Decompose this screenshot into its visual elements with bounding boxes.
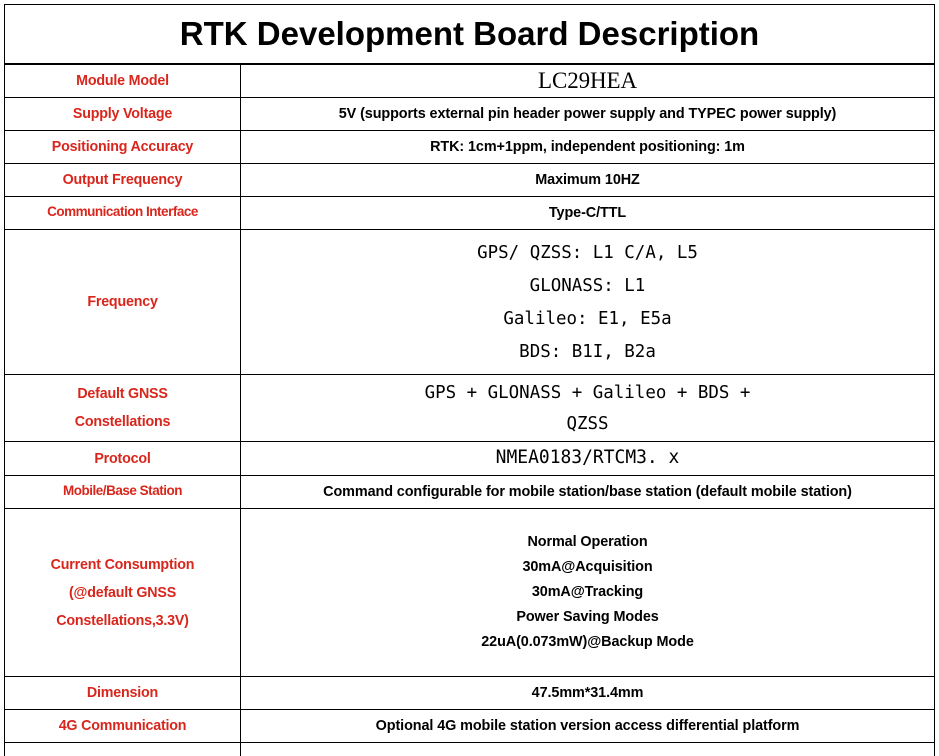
row-label-partial	[5, 742, 241, 756]
row-value-communication-interface: Type-C/TTL	[241, 196, 935, 229]
label-text: Communication Interface	[15, 203, 231, 222]
label-line: Constellations,3.3V)	[15, 611, 231, 630]
table-row: Module Model LC29HEA	[5, 64, 935, 97]
value-line: 22uA(0.073mW)@Backup Mode	[259, 632, 917, 652]
row-value-frequency: GPS/ QZSS: L1 C/A, L5 GLONASS: L1 Galile…	[241, 229, 935, 374]
value-line: GPS + GLONASS + Galileo + BDS +	[255, 377, 919, 408]
value-text: RTK: 1cm+1ppm, independent positioning: …	[259, 137, 917, 157]
label-text: Frequency	[15, 292, 231, 311]
label-text: Output Frequency	[15, 170, 231, 189]
table-row-title: RTK Development Board Description	[5, 5, 935, 65]
row-label-frequency: Frequency	[5, 229, 241, 374]
table-row: Output Frequency Maximum 10HZ	[5, 163, 935, 196]
value-line: GPS/ QZSS: L1 C/A, L5	[255, 236, 919, 269]
row-label-output-frequency: Output Frequency	[5, 163, 241, 196]
row-value-supply-voltage: 5V (supports external pin header power s…	[241, 97, 935, 130]
row-label-communication-interface: Communication Interface	[5, 196, 241, 229]
row-label-positioning-accuracy: Positioning Accuracy	[5, 130, 241, 163]
table-row: Positioning Accuracy RTK: 1cm+1ppm, inde…	[5, 130, 935, 163]
value-line: BDS: B1I, B2a	[255, 335, 919, 368]
row-label-mobile-base-station: Mobile/Base Station	[5, 475, 241, 508]
spec-table: RTK Development Board Description Module…	[4, 4, 935, 756]
label-text: 4G Communication	[15, 716, 231, 735]
label-text: Protocol	[15, 449, 231, 468]
value-line: Normal Operation	[259, 532, 917, 552]
value-text: Maximum 10HZ	[259, 170, 917, 190]
row-value-positioning-accuracy: RTK: 1cm+1ppm, independent positioning: …	[241, 130, 935, 163]
row-value-dimension: 47.5mm*31.4mm	[241, 676, 935, 709]
value-text: Type-C/TTL	[259, 203, 917, 223]
row-value-current-consumption: Normal Operation 30mA@Acquisition 30mA@T…	[241, 508, 935, 676]
value-line: Galileo: E1, E5a	[255, 302, 919, 335]
table-row: Mobile/Base Station Command configurable…	[5, 475, 935, 508]
row-label-current-consumption: Current Consumption (@default GNSS Const…	[5, 508, 241, 676]
page-root: RTK Development Board Description Module…	[0, 0, 939, 756]
value-text: Optional 4G mobile station version acces…	[259, 716, 917, 736]
table-row: Communication Interface Type-C/TTL	[5, 196, 935, 229]
label-line: Default GNSS	[15, 384, 231, 403]
value-line: QZSS	[255, 408, 919, 439]
label-text: Dimension	[15, 683, 231, 702]
table-row: Current Consumption (@default GNSS Const…	[5, 508, 935, 676]
row-value-module-model: LC29HEA	[241, 64, 935, 97]
row-value-4g-communication: Optional 4G mobile station version acces…	[241, 709, 935, 742]
value-line: 30mA@Acquisition	[259, 557, 917, 577]
table-row: Dimension 47.5mm*31.4mm	[5, 676, 935, 709]
row-value-mobile-base-station: Command configurable for mobile station/…	[241, 475, 935, 508]
value-text: Command configurable for mobile station/…	[259, 482, 917, 502]
row-value-output-frequency: Maximum 10HZ	[241, 163, 935, 196]
row-value-protocol: NMEA0183/RTCM3. x	[241, 441, 935, 475]
label-text: Supply Voltage	[15, 104, 231, 123]
table-row: Protocol NMEA0183/RTCM3. x	[5, 441, 935, 475]
table-row: 4G Communication Optional 4G mobile stat…	[5, 709, 935, 742]
value-line: GLONASS: L1	[255, 269, 919, 302]
value-text: 5V (supports external pin header power s…	[259, 104, 917, 124]
label-line: (@default GNSS	[15, 583, 231, 602]
value-text: 47.5mm*31.4mm	[259, 683, 917, 703]
row-label-supply-voltage: Supply Voltage	[5, 97, 241, 130]
label-text: Module Model	[15, 71, 231, 90]
value-text: NMEA0183/RTCM3. x	[255, 445, 919, 471]
table-row: Supply Voltage 5V (supports external pin…	[5, 97, 935, 130]
row-value-default-gnss-constellations: GPS + GLONASS + Galileo + BDS + QZSS	[241, 374, 935, 441]
row-label-module-model: Module Model	[5, 64, 241, 97]
value-line: Power Saving Modes	[259, 607, 917, 627]
page-title: RTK Development Board Description	[180, 15, 759, 52]
value-line: 30mA@Tracking	[259, 582, 917, 602]
table-row-partial	[5, 742, 935, 756]
row-label-protocol: Protocol	[5, 441, 241, 475]
row-label-4g-communication: 4G Communication	[5, 709, 241, 742]
row-label-default-gnss-constellations: Default GNSS Constellations	[5, 374, 241, 441]
label-line: Current Consumption	[15, 555, 231, 574]
row-label-dimension: Dimension	[5, 676, 241, 709]
row-value-partial	[241, 742, 935, 756]
table-row: Frequency GPS/ QZSS: L1 C/A, L5 GLONASS:…	[5, 229, 935, 374]
label-text: Positioning Accuracy	[15, 137, 231, 156]
page-title-cell: RTK Development Board Description	[5, 5, 935, 65]
value-text: LC29HEA	[245, 71, 930, 91]
table-row: Default GNSS Constellations GPS + GLONAS…	[5, 374, 935, 441]
label-text: Mobile/Base Station	[15, 482, 231, 501]
label-line: Constellations	[15, 412, 231, 431]
